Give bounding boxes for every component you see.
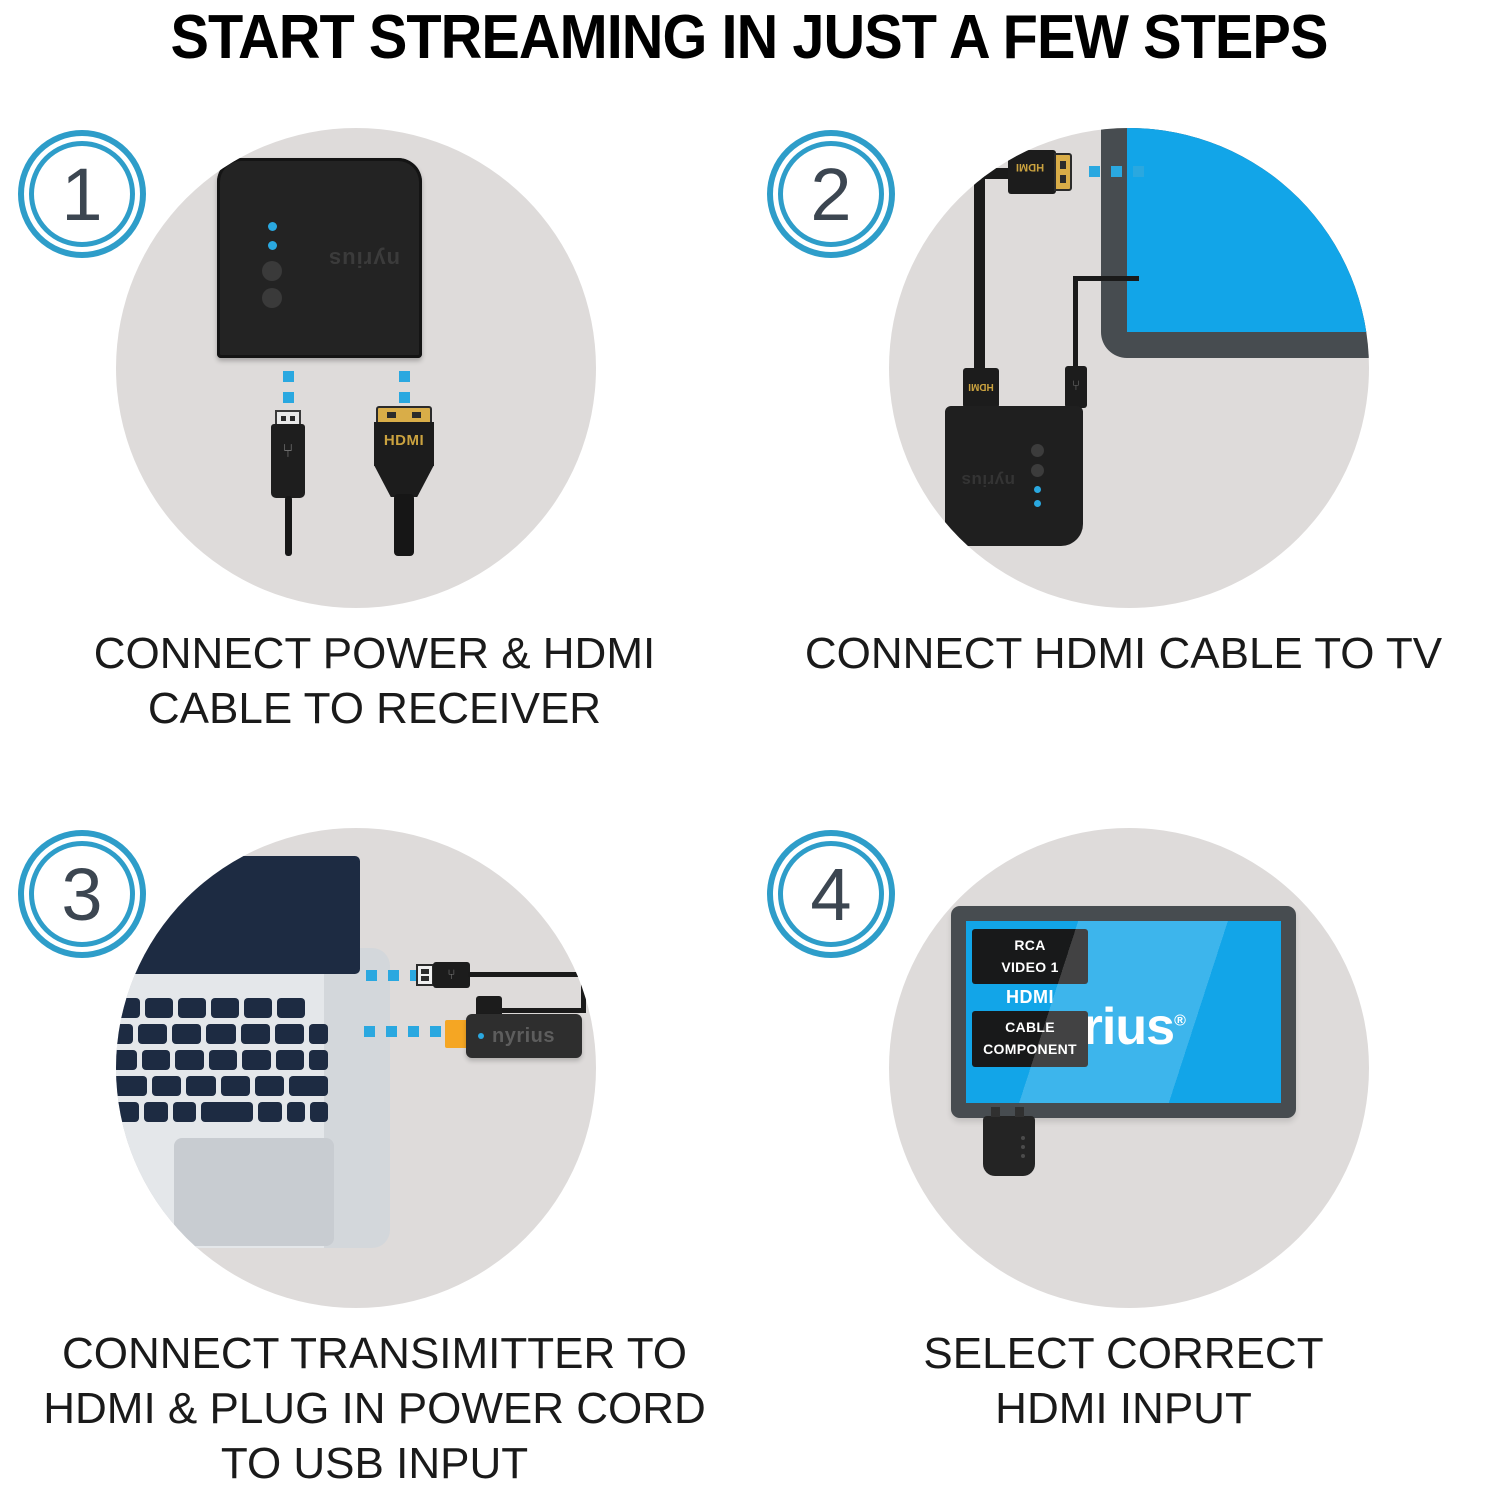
usb-cable-horizontal bbox=[1073, 276, 1139, 281]
hdmi-taper bbox=[374, 465, 434, 497]
page-title: START STREAMING IN JUST A FEW STEPS bbox=[52, 2, 1445, 73]
led-indicator-2 bbox=[1021, 1145, 1025, 1149]
laptop-trackpad bbox=[174, 1138, 334, 1246]
laptop-screen bbox=[118, 856, 360, 974]
device-button-1 bbox=[1031, 444, 1044, 457]
transmitter-brand-label: nyrius bbox=[492, 1025, 555, 1048]
hdmi-cable-vertical bbox=[974, 168, 985, 388]
usb-trident-icon: ⑂ bbox=[1065, 377, 1087, 393]
laptop bbox=[116, 838, 426, 1298]
hdmi-cord bbox=[394, 494, 414, 556]
hdmi-gold-contacts bbox=[1054, 153, 1072, 191]
led-indicator-3 bbox=[1021, 1154, 1025, 1158]
usb-cable-vertical bbox=[581, 972, 586, 1012]
step-number: 4 bbox=[767, 830, 895, 958]
led-indicator-1 bbox=[1034, 486, 1041, 493]
television: nyrius® RCA VIDEO 1 HDMI CABLE COMPONENT bbox=[951, 906, 1296, 1118]
usb-tip bbox=[416, 964, 434, 986]
caption-line: CONNECT HDMI CABLE TO TV bbox=[749, 626, 1498, 681]
led-indicator-1 bbox=[268, 222, 277, 231]
step-2-caption: CONNECT HDMI CABLE TO TV bbox=[749, 626, 1498, 681]
step-3-illustration: ⑂ nyrius bbox=[116, 828, 596, 1308]
usb-trident-icon: ⑂ bbox=[433, 966, 470, 982]
hdmi-label: HDMI bbox=[963, 381, 999, 392]
laptop-keyboard bbox=[116, 998, 328, 1130]
led-indicator-2 bbox=[1034, 500, 1041, 507]
step-1-caption: CONNECT POWER & HDMI CABLE TO RECEIVER bbox=[0, 626, 749, 736]
connection-dashes-usb bbox=[366, 970, 421, 981]
caption-line: SELECT CORRECT bbox=[749, 1326, 1498, 1381]
step-badge-4: 4 bbox=[767, 830, 895, 958]
screen-glare bbox=[966, 921, 1281, 1103]
transmitter-device: nyrius bbox=[466, 1014, 582, 1058]
receiver-device: nyrius bbox=[217, 158, 422, 358]
step-badge-2: 2 bbox=[767, 130, 895, 258]
receiver-brand-label: nyrius bbox=[961, 470, 1015, 490]
connector-stub-1 bbox=[991, 1107, 1000, 1117]
step-badge-3: 3 bbox=[18, 830, 146, 958]
usb-cable-return bbox=[498, 1008, 586, 1013]
caption-line: CABLE TO RECEIVER bbox=[0, 681, 749, 736]
caption-line: CONNECT TRANSIMITTER TO bbox=[0, 1326, 749, 1381]
step-1-illustration: nyrius ⑂ HDMI bbox=[116, 128, 596, 608]
usb-cable-horizontal bbox=[468, 972, 586, 977]
hdmi-connector-to-receiver: HDMI bbox=[963, 368, 999, 408]
caption-line: TO USB INPUT bbox=[0, 1436, 749, 1491]
step-4-caption: SELECT CORRECT HDMI INPUT bbox=[749, 1326, 1498, 1436]
receiver-brand-label: nyrius bbox=[328, 246, 400, 272]
caption-line: CONNECT POWER & HDMI bbox=[0, 626, 749, 681]
tv-screen: nyrius® RCA VIDEO 1 HDMI CABLE COMPONENT bbox=[966, 921, 1281, 1103]
device-button-2 bbox=[262, 288, 282, 308]
usb-trident-icon: ⑂ bbox=[280, 442, 296, 464]
hdmi-label: HDMI bbox=[1010, 161, 1050, 173]
step-number: 3 bbox=[18, 830, 146, 958]
usb-cord bbox=[285, 496, 292, 556]
steps-grid: 1 nyrius ⑂ bbox=[0, 110, 1498, 1500]
usb-connector-icon: ⑂ bbox=[271, 410, 305, 515]
device-button-1 bbox=[262, 261, 282, 281]
led-indicator-1 bbox=[1021, 1136, 1025, 1140]
caption-line: HDMI & PLUG IN POWER CORD bbox=[0, 1381, 749, 1436]
step-number: 2 bbox=[767, 130, 895, 258]
tv-corner bbox=[1101, 128, 1369, 358]
step-3-caption: CONNECT TRANSIMITTER TO HDMI & PLUG IN P… bbox=[0, 1326, 749, 1491]
receiver-device bbox=[983, 1116, 1035, 1176]
step-badge-1: 1 bbox=[18, 130, 146, 258]
connector-stub-2 bbox=[1015, 1107, 1024, 1117]
step-4-illustration: nyrius® RCA VIDEO 1 HDMI CABLE COMPONENT bbox=[889, 828, 1369, 1308]
caption-line: HDMI INPUT bbox=[749, 1381, 1498, 1436]
step-number: 1 bbox=[18, 130, 146, 258]
step-2-illustration: HDMI ⑂ HDMI nyrius bbox=[889, 128, 1369, 608]
connection-dashes-tv bbox=[1089, 166, 1144, 177]
usb-connector-icon: ⑂ bbox=[416, 962, 470, 988]
led-indicator bbox=[478, 1033, 484, 1039]
hdmi-label: HDMI bbox=[374, 432, 434, 449]
device-button-2 bbox=[1031, 464, 1044, 477]
tv-screen bbox=[1127, 128, 1369, 332]
receiver-device: nyrius bbox=[945, 406, 1083, 546]
usb-connector-icon: ⑂ bbox=[1065, 366, 1087, 408]
hdmi-connector-to-tv: HDMI bbox=[1008, 150, 1078, 194]
led-indicator-2 bbox=[268, 241, 277, 250]
hdmi-connector-icon: HDMI bbox=[374, 406, 434, 516]
